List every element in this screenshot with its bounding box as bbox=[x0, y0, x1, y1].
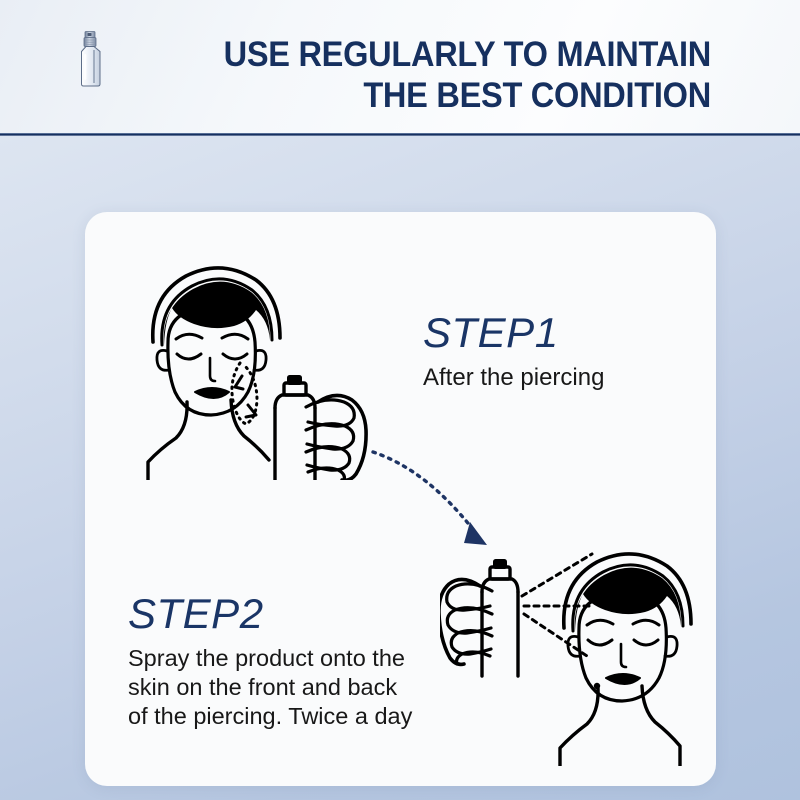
spray-bottle-icon bbox=[74, 30, 108, 93]
header-title: USE REGULARLY TO MAINTAIN THE BEST CONDI… bbox=[155, 34, 750, 116]
instructions-card: STEP1 After the piercing STEP2 Spray the… bbox=[85, 212, 716, 786]
step1-heading: STEP1 bbox=[423, 309, 604, 357]
step1-text-block: STEP1 After the piercing bbox=[423, 309, 604, 393]
step2-description: Spray the product onto the skin on the f… bbox=[128, 644, 412, 731]
hand-spraying-face-illustration bbox=[440, 534, 700, 771]
promo-banner: USE REGULARLY TO MAINTAIN THE BEST CONDI… bbox=[0, 0, 800, 800]
step1-description: After the piercing bbox=[423, 363, 604, 393]
step2-heading: STEP2 bbox=[128, 590, 412, 638]
step2-text-block: STEP2 Spray the product onto the skin on… bbox=[128, 590, 412, 731]
header-bar: USE REGULARLY TO MAINTAIN THE BEST CONDI… bbox=[0, 0, 800, 134]
woman-face-spray-bottle-illustration bbox=[130, 250, 380, 485]
